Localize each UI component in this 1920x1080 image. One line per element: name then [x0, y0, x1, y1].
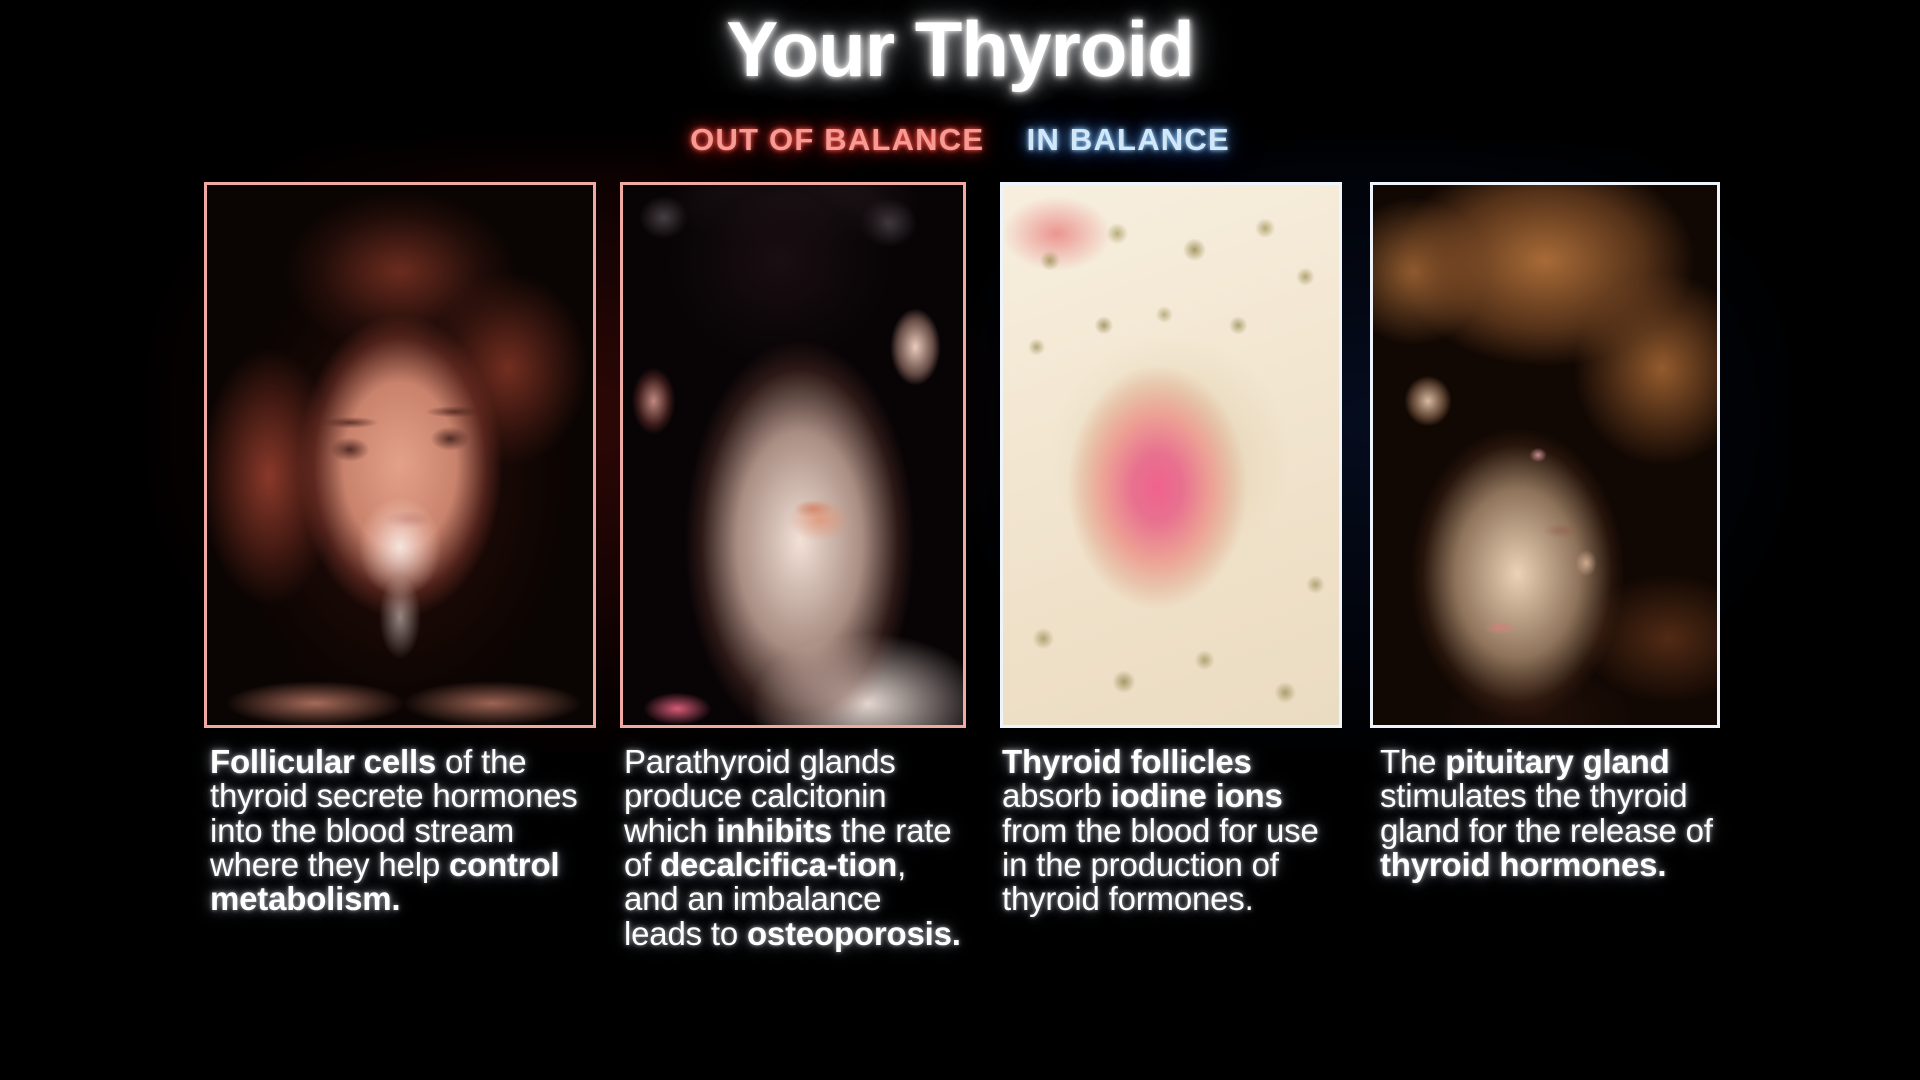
caption-emphasis: pituitary gland: [1445, 743, 1669, 780]
caption-text: stimulates the thyroid gland for the rel…: [1380, 777, 1713, 848]
image-thyroid-follicle-histology: [1003, 185, 1339, 725]
caption-text: from the blood for use in the production…: [1002, 812, 1319, 918]
caption-follicular-cells: Follicular cells of the thyroid secrete …: [210, 745, 582, 917]
panel-follicular-cells[interactable]: [204, 182, 596, 728]
panel-thyroid-follicles[interactable]: [1000, 182, 1342, 728]
page-title: Your Thyroid: [726, 10, 1194, 88]
caption-emphasis: decalcifica-tion: [660, 846, 897, 883]
caption-text: The: [1380, 743, 1445, 780]
caption-emphasis: iodine ions: [1111, 777, 1283, 814]
caption-emphasis: Follicular cells: [210, 743, 436, 780]
caption-emphasis: inhibits: [716, 812, 832, 849]
caption-pituitary-gland: The pituitary gland stimulates the thyro…: [1380, 745, 1720, 882]
panel-frame-pituitary-gland: [1370, 182, 1720, 728]
caption-emphasis: thyroid hormones.: [1380, 846, 1666, 883]
panel-frame-parathyroid-glands: [620, 182, 966, 728]
balance-legend: OUT OF BALANCE IN BALANCE: [0, 124, 1920, 155]
caption-parathyroid-glands: Parathyroid glands produce calcitonin wh…: [624, 745, 966, 951]
panel-frame-thyroid-follicles: [1000, 182, 1342, 728]
image-woman-front-portrait: [207, 185, 593, 725]
title-block: Your Thyroid: [0, 10, 1920, 88]
legend-out-of-balance: OUT OF BALANCE: [690, 124, 984, 155]
caption-thyroid-follicles: Thyroid follicles absorb iodine ions fro…: [1002, 745, 1342, 917]
panel-parathyroid-glands[interactable]: [620, 182, 966, 728]
caption-emphasis: Thyroid follicles: [1002, 743, 1252, 780]
infographic-root: Your Thyroid OUT OF BALANCE IN BALANCE F…: [0, 0, 1920, 1080]
legend-in-balance: IN BALANCE: [1027, 124, 1230, 155]
image-woman-head-down-profile: [1373, 185, 1717, 725]
caption-emphasis: osteoporosis.: [747, 915, 961, 952]
panel-pituitary-gland[interactable]: [1370, 182, 1720, 728]
image-neck-nape-back-view: [623, 185, 963, 725]
panel-frame-follicular-cells: [204, 182, 596, 728]
caption-text: absorb: [1002, 777, 1111, 814]
